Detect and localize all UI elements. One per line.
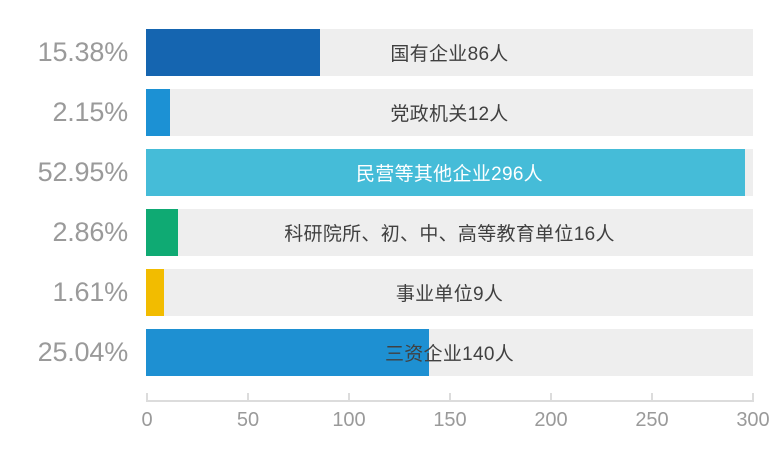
percent-label: 25.04% bbox=[0, 337, 128, 368]
bar-value-label: 国有企业86人 bbox=[146, 29, 753, 76]
percent-label: 2.15% bbox=[0, 97, 128, 128]
bar-track: 党政机关12人 bbox=[146, 89, 753, 136]
bar-track: 民营等其他企业296人 bbox=[146, 149, 753, 196]
axis-tick bbox=[247, 393, 249, 400]
bar-value-label: 党政机关12人 bbox=[146, 89, 753, 136]
bar-track: 科研院所、初、中、高等教育单位16人 bbox=[146, 209, 753, 256]
percent-label: 1.61% bbox=[0, 277, 128, 308]
bar-track: 事业单位9人 bbox=[146, 269, 753, 316]
bar-value-label: 科研院所、初、中、高等教育单位16人 bbox=[146, 209, 753, 256]
table-row[interactable]: 52.95% 民营等其他企业296人 bbox=[0, 149, 779, 196]
table-row[interactable]: 1.61% 事业单位9人 bbox=[0, 269, 779, 316]
axis-tick-label: 50 bbox=[237, 409, 259, 432]
bar-track: 国有企业86人 bbox=[146, 29, 753, 76]
axis-tick-label: 250 bbox=[635, 409, 668, 432]
percent-label: 2.86% bbox=[0, 217, 128, 248]
axis-start-cap bbox=[146, 393, 148, 402]
table-row[interactable]: 2.15% 党政机关12人 bbox=[0, 89, 779, 136]
percent-label: 15.38% bbox=[0, 37, 128, 68]
percent-label: 52.95% bbox=[0, 157, 128, 188]
chart-plot-area: 15.38% 国有企业86人 2.15% 党政机关12人 52.95% 民营等其… bbox=[0, 0, 779, 400]
axis-tick bbox=[348, 393, 350, 400]
bar-value-label: 事业单位9人 bbox=[146, 269, 753, 316]
axis-end-cap bbox=[752, 393, 754, 402]
axis-tick-label: 100 bbox=[332, 409, 365, 432]
bar-value-label: 民营等其他企业296人 bbox=[146, 149, 753, 196]
axis-tick-label: 200 bbox=[534, 409, 567, 432]
table-row[interactable]: 2.86% 科研院所、初、中、高等教育单位16人 bbox=[0, 209, 779, 256]
axis-tick bbox=[550, 393, 552, 400]
horizontal-bar-chart: 15.38% 国有企业86人 2.15% 党政机关12人 52.95% 民营等其… bbox=[0, 0, 779, 457]
axis-tick-label: 0 bbox=[141, 409, 152, 432]
axis-tick-label: 150 bbox=[433, 409, 466, 432]
bar-value-label: 三资企业140人 bbox=[146, 329, 753, 376]
axis-tick bbox=[651, 393, 653, 400]
axis-tick bbox=[449, 393, 451, 400]
axis-line bbox=[146, 400, 754, 402]
bar-track: 三资企业140人 bbox=[146, 329, 753, 376]
axis-tick-label: 300 bbox=[736, 409, 769, 432]
x-axis: 0 50 100 150 200 250 300 bbox=[0, 400, 779, 457]
table-row[interactable]: 15.38% 国有企业86人 bbox=[0, 29, 779, 76]
table-row[interactable]: 25.04% 三资企业140人 bbox=[0, 329, 779, 376]
